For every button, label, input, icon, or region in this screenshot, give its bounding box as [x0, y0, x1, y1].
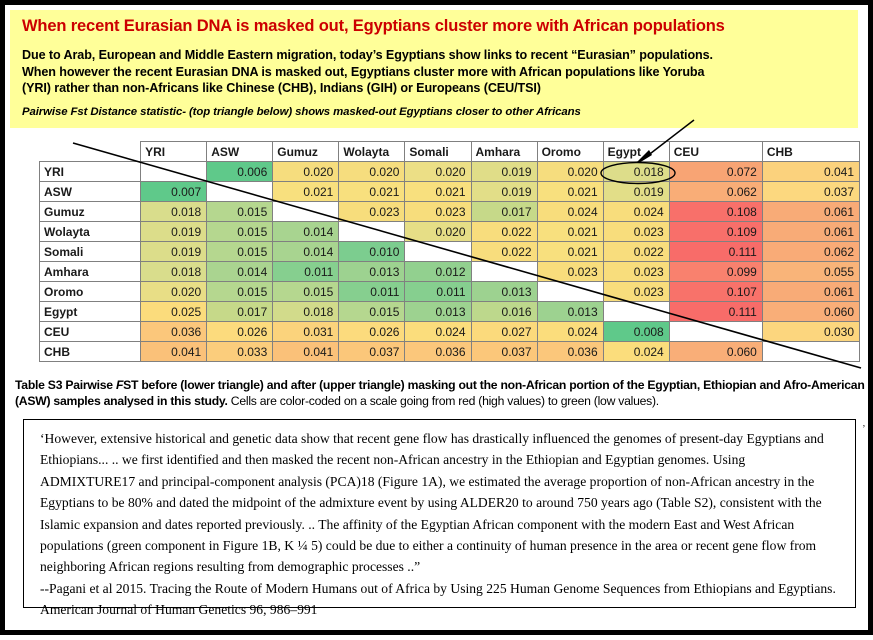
table-row: Amhara0.0180.0140.0110.0130.0120.0230.02… — [40, 262, 860, 282]
row-header-chb: CHB — [40, 342, 141, 362]
matrix-cell: 0.041 — [273, 342, 339, 362]
row-header-ceu: CEU — [40, 322, 141, 342]
matrix-cell: 0.010 — [339, 242, 405, 262]
matrix-cell: 0.013 — [339, 262, 405, 282]
matrix-cell: 0.020 — [273, 162, 339, 182]
matrix-cell: 0.021 — [273, 182, 339, 202]
matrix-cell: 0.055 — [762, 262, 859, 282]
banner-line-1: Due to Arab, European and Middle Eastern… — [22, 47, 848, 64]
caption-bold-1: Table S3 Pairwise — [15, 378, 116, 392]
matrix-cell: 0.021 — [537, 182, 603, 202]
matrix-cell: 0.019 — [471, 162, 537, 182]
matrix-cell: 0.011 — [405, 282, 471, 302]
matrix-cell: 0.024 — [603, 202, 669, 222]
matrix-cell: 0.062 — [762, 242, 859, 262]
matrix-cell: 0.061 — [762, 222, 859, 242]
matrix-cell-empty — [273, 202, 339, 222]
matrix-cell: 0.037 — [339, 342, 405, 362]
matrix-cell: 0.020 — [405, 162, 471, 182]
matrix-cell: 0.008 — [603, 322, 669, 342]
matrix-cell: 0.016 — [471, 302, 537, 322]
row-header-asw: ASW — [40, 182, 141, 202]
column-header-oromo: Oromo — [537, 142, 603, 162]
matrix-cell: 0.030 — [762, 322, 859, 342]
matrix-cell: 0.021 — [405, 182, 471, 202]
matrix-cell: 0.013 — [537, 302, 603, 322]
table-row: Gumuz0.0180.0150.0230.0230.0170.0240.024… — [40, 202, 860, 222]
matrix-cell-empty — [471, 262, 537, 282]
matrix-cell: 0.013 — [471, 282, 537, 302]
matrix-cell: 0.018 — [273, 302, 339, 322]
matrix-cell: 0.024 — [405, 322, 471, 342]
row-header-gumuz: Gumuz — [40, 202, 141, 222]
matrix-cell: 0.019 — [471, 182, 537, 202]
matrix-cell-empty — [339, 222, 405, 242]
fst-matrix-container: YRI ASW Gumuz Wolayta Somali Amhara Orom… — [39, 141, 860, 362]
quotation-box: ‘However, extensive historical and genet… — [23, 419, 856, 608]
table-header-row: YRI ASW Gumuz Wolayta Somali Amhara Orom… — [40, 142, 860, 162]
fst-matrix-table: YRI ASW Gumuz Wolayta Somali Amhara Orom… — [39, 141, 860, 362]
matrix-corner-cell — [40, 142, 141, 162]
matrix-cell: 0.019 — [603, 182, 669, 202]
matrix-cell: 0.022 — [471, 222, 537, 242]
matrix-cell: 0.037 — [762, 182, 859, 202]
matrix-cell-empty — [603, 302, 669, 322]
header-banner: When recent Eurasian DNA is masked out, … — [10, 10, 858, 128]
matrix-cell: 0.019 — [141, 242, 207, 262]
matrix-cell: 0.015 — [339, 302, 405, 322]
matrix-cell: 0.061 — [762, 202, 859, 222]
quote-body-text: ‘However, extensive historical and genet… — [40, 428, 841, 578]
matrix-cell: 0.023 — [603, 262, 669, 282]
matrix-cell: 0.061 — [762, 282, 859, 302]
fst-matrix-body: YRI0.0060.0200.0200.0200.0190.0200.0180.… — [40, 162, 860, 362]
matrix-cell: 0.015 — [207, 202, 273, 222]
matrix-cell: 0.037 — [471, 342, 537, 362]
column-header-yri: YRI — [141, 142, 207, 162]
banner-note: Pairwise Fst Distance statistic- (top tr… — [22, 106, 848, 118]
table-row: Somali0.0190.0150.0140.0100.0220.0210.02… — [40, 242, 860, 262]
quote-citation: --Pagani et al 2015. Tracing the Route o… — [40, 578, 841, 621]
column-header-somali: Somali — [405, 142, 471, 162]
matrix-cell: 0.015 — [273, 282, 339, 302]
table-caption: Table S3 Pairwise FST before (lower tria… — [15, 377, 868, 409]
matrix-cell: 0.020 — [405, 222, 471, 242]
matrix-cell: 0.011 — [339, 282, 405, 302]
banner-paragraph: Due to Arab, European and Middle Eastern… — [22, 47, 848, 97]
matrix-cell: 0.006 — [207, 162, 273, 182]
matrix-cell: 0.099 — [669, 262, 762, 282]
matrix-cell: 0.041 — [762, 162, 859, 182]
matrix-cell: 0.060 — [669, 342, 762, 362]
matrix-cell: 0.111 — [669, 302, 762, 322]
matrix-cell: 0.033 — [207, 342, 273, 362]
matrix-cell: 0.041 — [141, 342, 207, 362]
table-row: CHB0.0410.0330.0410.0370.0360.0370.0360.… — [40, 342, 860, 362]
matrix-cell-empty — [141, 162, 207, 182]
matrix-cell: 0.021 — [339, 182, 405, 202]
row-header-wolayta: Wolayta — [40, 222, 141, 242]
row-header-somali: Somali — [40, 242, 141, 262]
matrix-cell: 0.023 — [603, 222, 669, 242]
matrix-cell: 0.014 — [273, 222, 339, 242]
slide-root: When recent Eurasian DNA is masked out, … — [0, 0, 873, 635]
matrix-cell: 0.023 — [603, 282, 669, 302]
row-header-amhara: Amhara — [40, 262, 141, 282]
table-row: YRI0.0060.0200.0200.0200.0190.0200.0180.… — [40, 162, 860, 182]
matrix-cell: 0.018 — [141, 202, 207, 222]
matrix-cell: 0.072 — [669, 162, 762, 182]
row-header-oromo: Oromo — [40, 282, 141, 302]
matrix-cell: 0.015 — [207, 282, 273, 302]
matrix-cell: 0.012 — [405, 262, 471, 282]
column-header-chb: CHB — [762, 142, 859, 162]
matrix-cell: 0.060 — [762, 302, 859, 322]
matrix-cell: 0.014 — [273, 242, 339, 262]
column-header-wolayta: Wolayta — [339, 142, 405, 162]
matrix-cell: 0.023 — [537, 262, 603, 282]
matrix-cell: 0.015 — [207, 222, 273, 242]
matrix-cell: 0.020 — [141, 282, 207, 302]
table-row: Egypt0.0250.0170.0180.0150.0130.0160.013… — [40, 302, 860, 322]
table-row: ASW0.0070.0210.0210.0210.0190.0210.0190.… — [40, 182, 860, 202]
matrix-cell: 0.020 — [339, 162, 405, 182]
matrix-cell: 0.036 — [405, 342, 471, 362]
column-header-egypt: Egypt — [603, 142, 669, 162]
matrix-cell: 0.007 — [141, 182, 207, 202]
row-header-egypt: Egypt — [40, 302, 141, 322]
matrix-cell: 0.109 — [669, 222, 762, 242]
matrix-cell: 0.018 — [141, 262, 207, 282]
matrix-cell-empty — [762, 342, 859, 362]
matrix-cell: 0.031 — [273, 322, 339, 342]
column-header-amhara: Amhara — [471, 142, 537, 162]
matrix-cell: 0.013 — [405, 302, 471, 322]
column-header-gumuz: Gumuz — [273, 142, 339, 162]
matrix-cell-empty — [207, 182, 273, 202]
matrix-cell: 0.036 — [141, 322, 207, 342]
row-header-yri: YRI — [40, 162, 141, 182]
matrix-cell: 0.111 — [669, 242, 762, 262]
table-row: Oromo0.0200.0150.0150.0110.0110.0130.023… — [40, 282, 860, 302]
table-row: Wolayta0.0190.0150.0140.0200.0220.0210.0… — [40, 222, 860, 242]
matrix-cell: 0.015 — [207, 242, 273, 262]
stray-apostrophe-mark: ’ — [862, 423, 866, 435]
matrix-cell: 0.017 — [207, 302, 273, 322]
matrix-cell: 0.020 — [537, 162, 603, 182]
matrix-cell: 0.014 — [207, 262, 273, 282]
matrix-cell: 0.019 — [141, 222, 207, 242]
matrix-cell: 0.026 — [339, 322, 405, 342]
matrix-cell-empty — [669, 322, 762, 342]
matrix-cell-empty — [405, 242, 471, 262]
matrix-cell: 0.021 — [537, 242, 603, 262]
matrix-cell: 0.036 — [537, 342, 603, 362]
matrix-cell: 0.026 — [207, 322, 273, 342]
table-row: CEU0.0360.0260.0310.0260.0240.0270.0240.… — [40, 322, 860, 342]
matrix-cell: 0.017 — [471, 202, 537, 222]
matrix-cell: 0.024 — [603, 342, 669, 362]
matrix-cell: 0.021 — [537, 222, 603, 242]
matrix-cell: 0.108 — [669, 202, 762, 222]
page-title: When recent Eurasian DNA is masked out, … — [22, 17, 848, 36]
banner-line-2: When however the recent Eurasian DNA is … — [22, 64, 848, 81]
matrix-cell: 0.062 — [669, 182, 762, 202]
matrix-cell: 0.022 — [471, 242, 537, 262]
matrix-cell: 0.025 — [141, 302, 207, 322]
matrix-cell: 0.107 — [669, 282, 762, 302]
column-header-ceu: CEU — [669, 142, 762, 162]
column-header-asw: ASW — [207, 142, 273, 162]
matrix-cell: 0.023 — [405, 202, 471, 222]
matrix-cell: 0.024 — [537, 202, 603, 222]
matrix-cell: 0.018 — [603, 162, 669, 182]
matrix-cell-empty — [537, 282, 603, 302]
matrix-cell: 0.022 — [603, 242, 669, 262]
matrix-cell: 0.027 — [471, 322, 537, 342]
matrix-cell: 0.024 — [537, 322, 603, 342]
caption-normal: Cells are color-coded on a scale going f… — [228, 394, 659, 408]
matrix-cell: 0.023 — [339, 202, 405, 222]
banner-line-3: (YRI) rather than non-Africans like Chin… — [22, 80, 848, 97]
matrix-cell: 0.011 — [273, 262, 339, 282]
